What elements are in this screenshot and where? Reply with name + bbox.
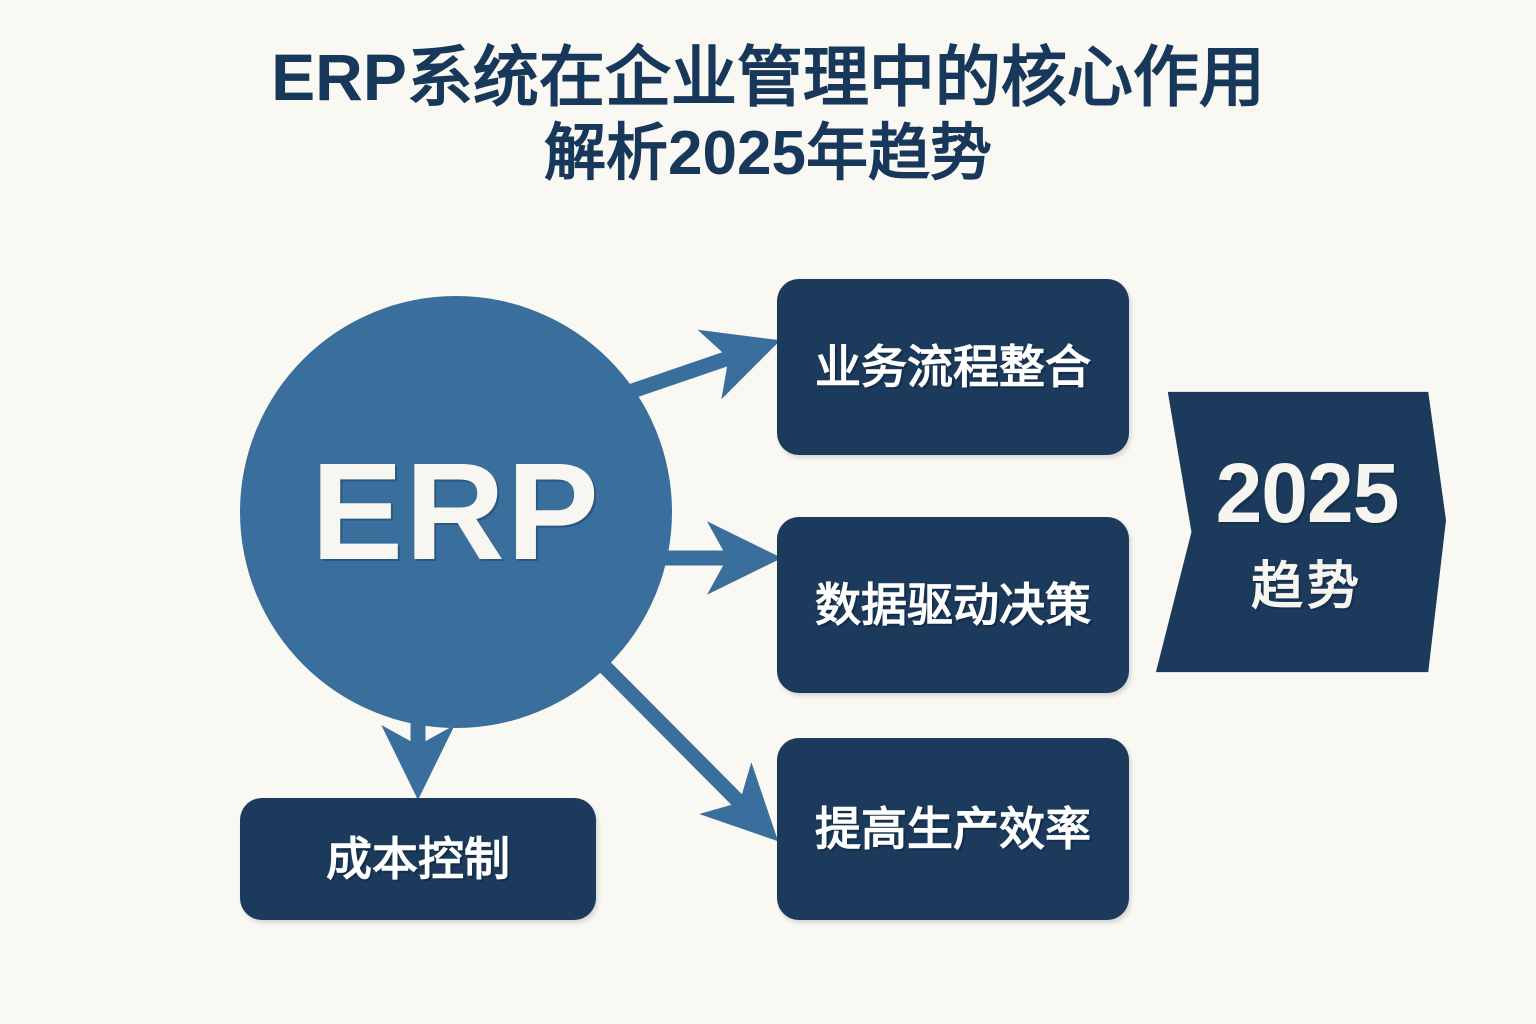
trend-badge-year: 2025 [1216, 451, 1399, 535]
trend-badge[interactable]: 2025 趋势 [1150, 386, 1446, 678]
erp-center-label: ERP [311, 443, 601, 581]
trend-badge-label: 趋势 [1251, 561, 1363, 613]
node-label-process: 业务流程整合 [789, 339, 1117, 395]
diagram-canvas: ERP系统在企业管理中的核心作用 解析2025年趋势 ERP 业务 [0, 0, 1536, 1024]
node-business-process-integration[interactable]: 业务流程整合 [777, 279, 1129, 455]
trend-badge-content: 2025 趋势 [1150, 386, 1446, 678]
node-production-efficiency[interactable]: 提高生产效率 [777, 738, 1129, 920]
node-cost-control[interactable]: 成本控制 [240, 798, 596, 920]
node-data-driven-decision[interactable]: 数据驱动决策 [777, 517, 1129, 693]
erp-center-node[interactable]: ERP [240, 296, 672, 728]
arrow-to-efficiency [598, 660, 757, 820]
node-label-data: 数据驱动决策 [789, 577, 1117, 633]
node-label-cost: 成本控制 [326, 831, 510, 887]
node-label-efficiency: 提高生产效率 [789, 801, 1117, 857]
